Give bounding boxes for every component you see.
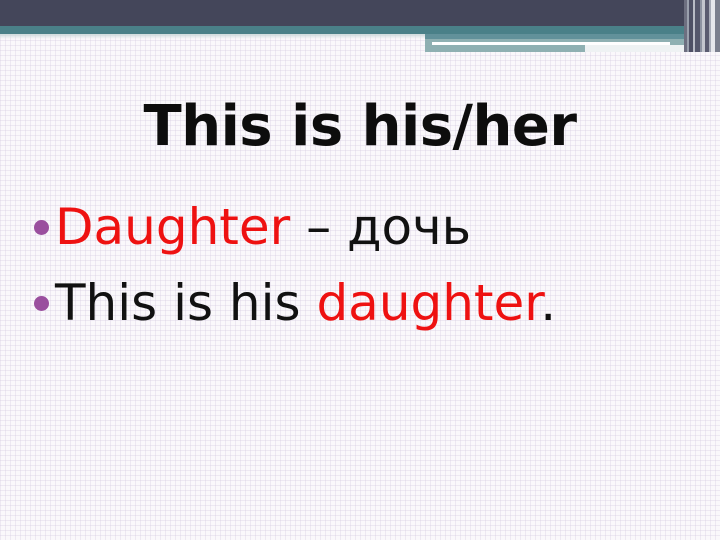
banner-step-block-shadow — [425, 34, 720, 39]
list-item-text: This is his daughter. — [55, 272, 714, 334]
list-item-segment-lead: This is his — [55, 274, 316, 332]
list-item-segment-ru: – дочь — [290, 198, 471, 256]
banner-teal-bar — [0, 26, 720, 34]
list-item: Daughter – дочь — [34, 196, 714, 258]
banner-vertical-stripes — [684, 0, 720, 52]
slide-header-banner — [0, 0, 720, 56]
presentation-slide: This is his/her Daughter – дочь This is … — [0, 0, 720, 540]
bullet-dot-icon — [34, 220, 49, 235]
list-item-segment-en: Daughter — [55, 198, 290, 256]
list-item: This is his daughter. — [34, 272, 714, 334]
list-item-segment-keyword: daughter — [316, 274, 540, 332]
list-item-segment-period: . — [540, 274, 556, 332]
bullet-dot-icon — [34, 296, 49, 311]
list-item-text: Daughter – дочь — [55, 196, 714, 258]
banner-navy-bar — [0, 0, 720, 26]
bullet-list: Daughter – дочь This is his daughter. — [34, 196, 714, 348]
banner-left-wash — [0, 34, 425, 39]
slide-title: This is his/her — [0, 95, 720, 159]
